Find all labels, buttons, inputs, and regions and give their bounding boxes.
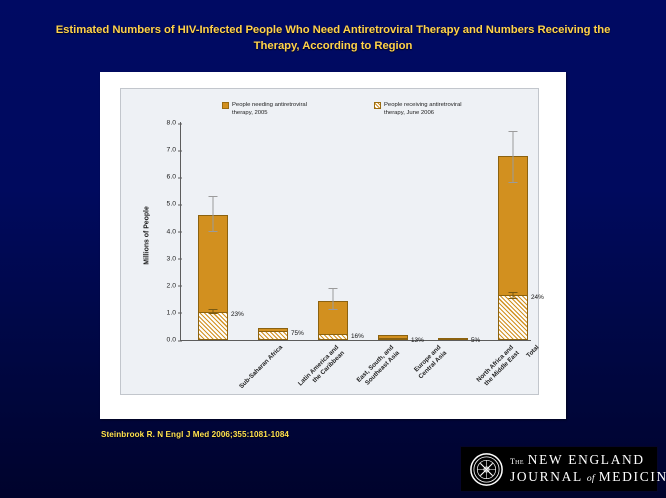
y-axis-label: Millions of People [144,206,151,265]
y-axis-tick: 6.0 [167,174,181,181]
error-bar-needing [213,196,214,231]
nejm-wordmark: The NEW ENGLAND JOURNAL of MEDICINE [510,452,666,487]
page-title: Estimated Numbers of HIV-Infected People… [40,22,626,54]
legend-label-needing: People needing antiretroviral therapy, 2… [232,101,307,117]
coverage-percent-label: 16% [351,333,364,340]
x-axis-category-line: Total [525,344,541,360]
bar-receiving[interactable] [318,334,348,340]
citation: Steinbrook R. N Engl J Med 2006;355:1081… [101,430,289,439]
nejm-seal-icon [470,453,503,486]
error-bar-needing [513,131,514,183]
y-axis-tick: 7.0 [167,147,181,154]
y-axis-tick: 8.0 [167,120,181,127]
coverage-percent-label: 13% [411,337,424,344]
x-axis-category-label: North Africa andthe Middle East [475,344,520,389]
y-axis-tick: 3.0 [167,255,181,262]
y-axis-tick: 1.0 [167,309,181,316]
x-axis-category-label: Sub-Saharan Africa [238,344,285,391]
coverage-percent-label: 5% [471,337,480,344]
legend-swatch-solid-icon [222,102,229,109]
error-bar-receiving [513,292,514,299]
bar-group[interactable] [198,123,228,340]
bar-group[interactable] [318,123,348,340]
coverage-percent-label: 24% [531,294,544,301]
y-axis-tick: 2.0 [167,282,181,289]
bar-receiving[interactable] [378,338,408,340]
figure-panel: People needing antiretroviral therapy, 2… [100,72,566,419]
x-axis-category-label: Total [525,344,541,360]
error-bar-receiving [213,309,214,313]
x-axis-category-label: East, South, andSoutheast Asia [355,344,401,390]
x-axis-category-label: Latin America andthe Caribbean [297,344,346,393]
bar-receiving[interactable] [438,338,468,340]
chart-legend: People needing antiretroviral therapy, 2… [222,101,512,117]
y-axis-tick: 5.0 [167,201,181,208]
bar-group[interactable] [378,123,408,340]
bar-group[interactable] [498,123,528,340]
nejm-logo: The NEW ENGLAND JOURNAL of MEDICINE [461,447,657,491]
bar-receiving[interactable] [258,331,288,340]
y-axis-tick: 0.0 [167,337,181,344]
coverage-percent-label: 75% [291,330,304,337]
bar-receiving[interactable] [498,295,528,340]
coverage-percent-label: 23% [231,311,244,318]
legend-swatch-hatched-icon [374,102,381,109]
nejm-line-2: JOURNAL of MEDICINE [510,469,666,487]
bar-group[interactable] [258,123,288,340]
plot-area: 0.01.02.03.04.05.06.07.08.0 23%75%16%13%… [181,123,531,340]
legend-item-receiving: People receiving antiretroviral therapy,… [374,101,510,117]
chart-card: People needing antiretroviral therapy, 2… [120,88,539,395]
bar-group[interactable] [438,123,468,340]
legend-label-receiving: People receiving antiretroviral therapy,… [384,101,462,117]
x-axis-category-label: Europe andCentral Asia [412,344,449,381]
y-axis-tick: 4.0 [167,228,181,235]
error-bar-needing [333,288,334,310]
bar-receiving[interactable] [198,312,228,340]
legend-item-needing: People needing antiretroviral therapy, 2… [222,101,358,117]
nejm-line-1: The NEW ENGLAND [510,452,666,469]
x-axis-category-line: Sub-Saharan Africa [238,344,285,391]
